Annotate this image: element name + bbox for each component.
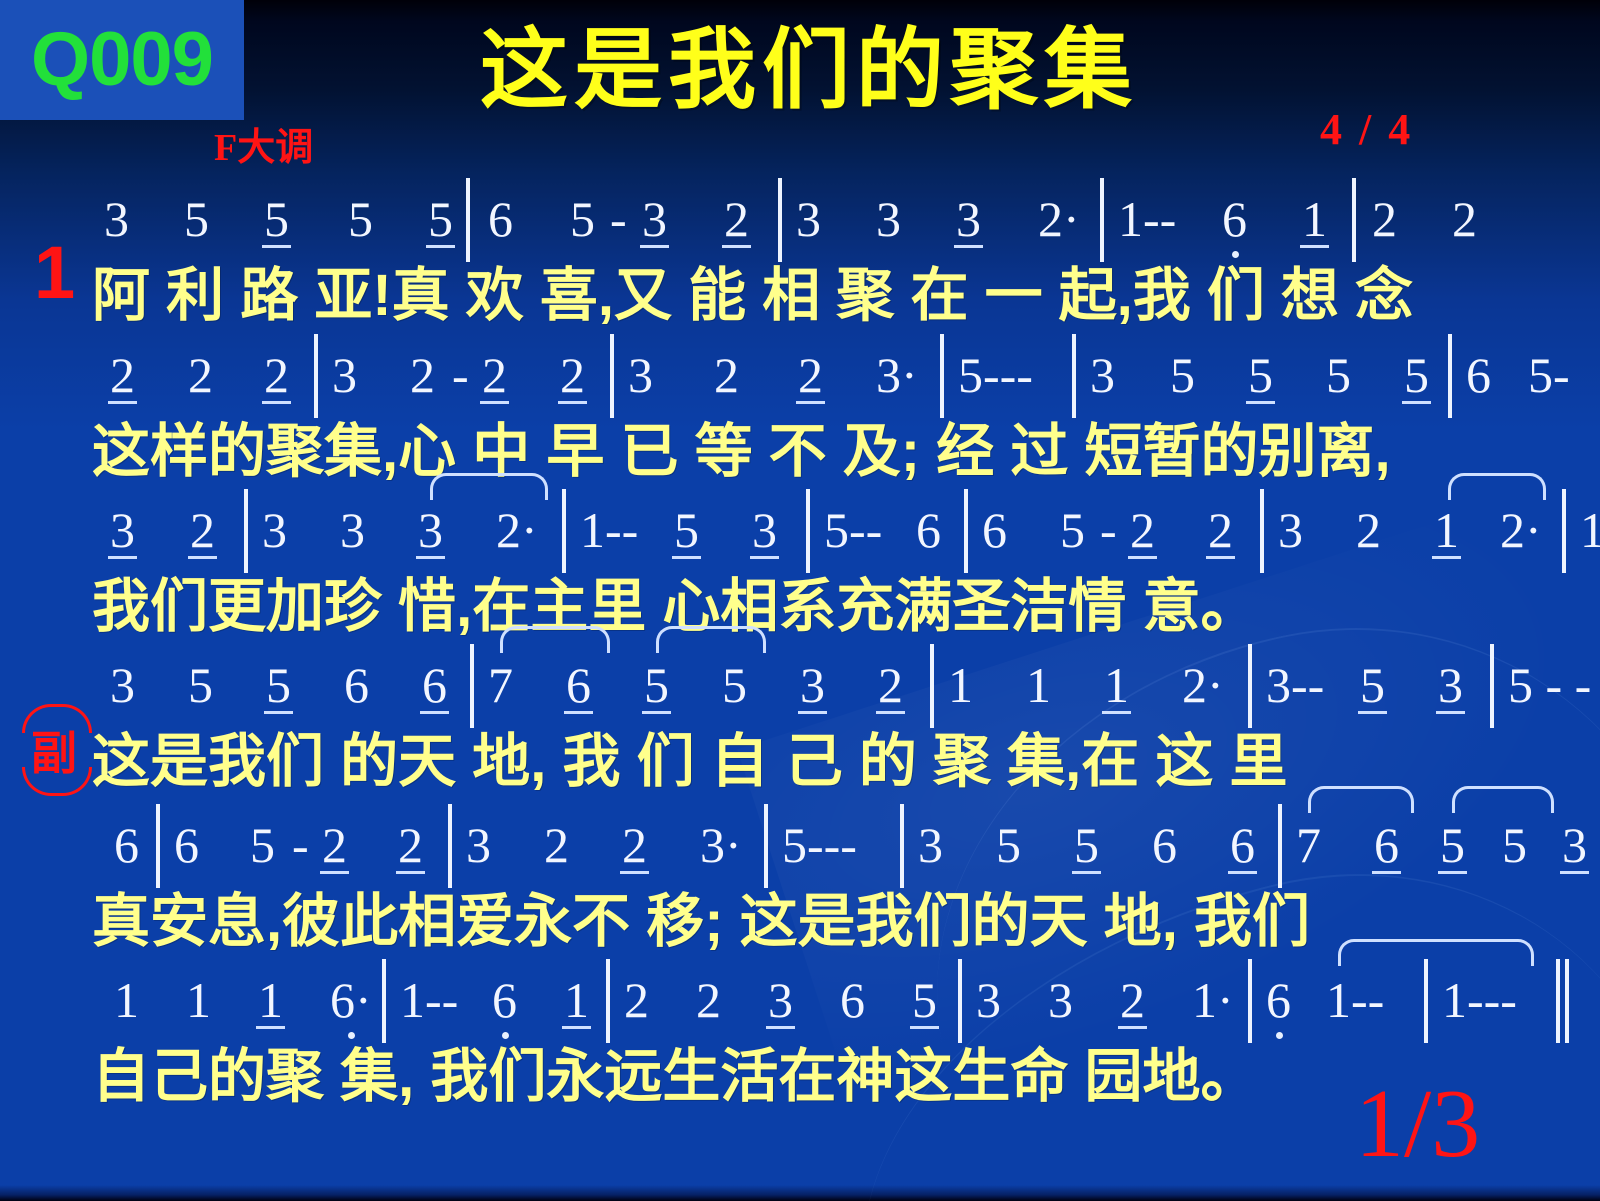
note: 5: [912, 963, 937, 1037]
note: 5: [644, 648, 669, 722]
note: 3: [110, 648, 135, 722]
note: 6·: [330, 963, 372, 1037]
note: 3: [1090, 338, 1115, 412]
note: 2: [560, 338, 585, 412]
note: 2: [624, 963, 649, 1037]
note: 3·: [700, 808, 742, 882]
note: 6: [344, 648, 369, 722]
slur-arc-icon: [1308, 786, 1414, 813]
note: 6: [916, 493, 941, 567]
note: 6: [492, 963, 517, 1037]
note: -: [610, 182, 627, 256]
barline: [1260, 489, 1264, 573]
note: 2: [188, 338, 213, 412]
note: 1: [258, 963, 283, 1037]
note: 1--: [1326, 963, 1384, 1037]
note: 5: [1248, 338, 1273, 412]
barline: [562, 489, 566, 573]
barline: [448, 804, 452, 888]
note: 3: [800, 648, 825, 722]
score-row: 323332·1--535--665-223212·1---我们更加珍 惜,在主…: [0, 493, 1600, 647]
note: 2: [1452, 182, 1477, 256]
barline: [806, 489, 810, 573]
notation-line: 665-223223·5---35566765532: [0, 808, 1600, 882]
note: 2·: [1500, 493, 1542, 567]
note: 2: [410, 338, 435, 412]
note: 3: [918, 808, 943, 882]
notation-line: 3555565-323332·1--6122: [0, 182, 1600, 256]
song-slide: Q009 F大调 这是我们的聚集 4 / 4 1/3 1 副 3555565-3…: [0, 0, 1600, 1201]
barline: [1352, 178, 1356, 262]
note: 5: [570, 182, 595, 256]
lyric-text: 阿 利 路 亚!真 欢 喜,又 能 相 聚 在 一 起,我 们 想 念: [92, 256, 1413, 336]
note: 6: [1222, 182, 1247, 256]
notation-line: 1116·1--61223653321·61--1---: [0, 963, 1600, 1037]
note: 6: [114, 808, 139, 882]
barline: [900, 804, 904, 888]
barline: [244, 489, 248, 573]
slur-arc-icon: [500, 626, 610, 653]
note: 6: [488, 182, 513, 256]
barline: [964, 489, 968, 573]
note: 3: [104, 182, 129, 256]
note: 5: [266, 648, 291, 722]
note: 5: [996, 808, 1021, 882]
time-signature: 4 / 4: [1320, 104, 1413, 155]
note: 5: [1060, 493, 1085, 567]
score-row: 355667655321112·3--535 - -这是我们 的天 地, 我 们…: [0, 648, 1600, 802]
notation-line: 355667655321112·3--535 - -: [0, 648, 1600, 722]
lyric-line: 我们更加珍 惜,在主里 心相系充满圣洁情 意。: [0, 567, 1600, 647]
barline: [1248, 644, 1252, 728]
note: 5 - -: [1508, 648, 1591, 722]
lyric-text: 这是我们 的天 地, 我 们 自 己 的 聚 集,在 这 里: [92, 722, 1288, 802]
note: 2: [696, 963, 721, 1037]
note: 1: [948, 648, 973, 722]
note: 2: [714, 338, 739, 412]
note: 5: [348, 182, 373, 256]
slur-arc-icon: [656, 626, 766, 653]
slur-arc-icon: [1448, 473, 1546, 500]
note: 6: [840, 963, 865, 1037]
note: 7: [488, 648, 513, 722]
chorus-label: 副: [31, 717, 77, 783]
note: 5: [250, 808, 275, 882]
note: 1: [1104, 648, 1129, 722]
barline: [958, 959, 962, 1043]
note: 6: [422, 648, 447, 722]
note: 2·: [1038, 182, 1080, 256]
note: 1--: [580, 493, 638, 567]
note: 3: [628, 338, 653, 412]
notation-line: 22232-223223·5---3555565-: [0, 338, 1600, 412]
note: 5: [264, 182, 289, 256]
note: 3: [956, 182, 981, 256]
note: 5: [1360, 648, 1385, 722]
lyric-line: 自己的聚 集, 我们永远生活在神这生命 园地。: [0, 1037, 1600, 1117]
barline: [940, 334, 944, 418]
note: 3: [332, 338, 357, 412]
note: 2: [1372, 182, 1397, 256]
note: 5: [188, 648, 213, 722]
note: 2: [622, 808, 647, 882]
note: 5---: [958, 338, 1033, 412]
note: 5: [1502, 808, 1527, 882]
note: 2: [1130, 493, 1155, 567]
note: 3: [1278, 493, 1303, 567]
note: 2: [724, 182, 749, 256]
lyric-text: 这样的聚集,心 中 早 已 等 不 及; 经 过 短暂的别离,: [92, 412, 1391, 492]
note: 2: [1120, 963, 1145, 1037]
note: 1: [1026, 648, 1051, 722]
note: 6: [1152, 808, 1177, 882]
note: 1·: [1192, 963, 1234, 1037]
note: 6: [982, 493, 1007, 567]
note: 2: [398, 808, 423, 882]
note: 6: [174, 808, 199, 882]
note: 3: [796, 182, 821, 256]
note: -: [1100, 493, 1117, 567]
song-code-badge: Q009: [0, 0, 244, 120]
note: 1: [1434, 493, 1459, 567]
note: 3: [418, 493, 443, 567]
note: 2·: [496, 493, 538, 567]
note: 5: [674, 493, 699, 567]
slur-arc-icon: [1338, 939, 1534, 966]
note: 1: [1302, 182, 1327, 256]
final-double-barline: [1556, 959, 1572, 1043]
barline: [778, 178, 782, 262]
note: 2: [190, 493, 215, 567]
note: 2: [544, 808, 569, 882]
barline: [382, 959, 386, 1043]
notation-line: 323332·1--535--665-223212·1---: [0, 493, 1600, 567]
note: 3: [1562, 808, 1587, 882]
barline: [1278, 804, 1282, 888]
slur-arc-icon: [430, 473, 548, 500]
note: 5: [428, 182, 453, 256]
note: 1: [186, 963, 211, 1037]
note: 6: [566, 648, 591, 722]
note: 3: [768, 963, 793, 1037]
score-row: 3555565-323332·1--6122阿 利 路 亚!真 欢 喜,又 能 …: [0, 182, 1600, 336]
note: 3: [1048, 963, 1073, 1037]
note: 1--: [400, 963, 458, 1037]
slur-arc-icon: [1452, 786, 1554, 813]
note: 3: [642, 182, 667, 256]
note: 3: [1438, 648, 1463, 722]
lyric-text: 真安息,彼此相爱永不 移; 这是我们的天 地, 我们: [92, 882, 1310, 962]
note: 1: [564, 963, 589, 1037]
note: 1: [114, 963, 139, 1037]
barline: [470, 644, 474, 728]
note: 1---: [1580, 493, 1600, 567]
note: 5: [1440, 808, 1465, 882]
note: 3: [466, 808, 491, 882]
note: 5--: [824, 493, 882, 567]
note: 5: [1170, 338, 1195, 412]
barline: [606, 959, 610, 1043]
note: 3: [110, 493, 135, 567]
note: 2: [1208, 493, 1233, 567]
lyric-text: 自己的聚 集, 我们永远生活在神这生命 园地。: [92, 1037, 1258, 1117]
barline: [156, 804, 160, 888]
lyric-line: 阿 利 路 亚!真 欢 喜,又 能 相 聚 在 一 起,我 们 想 念: [0, 256, 1600, 336]
note: 3: [876, 182, 901, 256]
note: 6: [1374, 808, 1399, 882]
note: 3--: [1266, 648, 1324, 722]
note: 6: [1466, 338, 1491, 412]
barline: [1072, 334, 1076, 418]
note: 2·: [1182, 648, 1224, 722]
note: 5: [1326, 338, 1351, 412]
note: 3: [976, 963, 1001, 1037]
note: 2: [322, 808, 347, 882]
barline: [930, 644, 934, 728]
note: 3·: [876, 338, 918, 412]
page-title: 这是我们的聚集: [480, 24, 1138, 116]
note: -: [452, 338, 469, 412]
barline: [610, 334, 614, 418]
barline: [1424, 959, 1428, 1043]
score-row: 1116·1--61223653321·61--1---自己的聚 集, 我们永远…: [0, 963, 1600, 1117]
note: 6: [1266, 963, 1291, 1037]
note: 2: [798, 338, 823, 412]
note: 3: [340, 493, 365, 567]
note: 5-: [1528, 338, 1570, 412]
key-signature: F大调: [214, 116, 313, 171]
lyric-line: 这样的聚集,心 中 早 已 等 不 及; 经 过 短暂的别离,: [0, 412, 1600, 492]
note: 2: [878, 648, 903, 722]
note: 3: [262, 493, 287, 567]
song-code-text: Q009: [31, 22, 213, 98]
note: 5: [722, 648, 747, 722]
barline: [1248, 959, 1252, 1043]
barline: [1562, 489, 1566, 573]
note: 1--: [1118, 182, 1176, 256]
barline: [1100, 178, 1104, 262]
note: 2: [1356, 493, 1381, 567]
barline: [764, 804, 768, 888]
barline: [1448, 334, 1452, 418]
note: -: [292, 808, 309, 882]
score-row: 22232-223223·5---3555565-这样的聚集,心 中 早 已 等…: [0, 338, 1600, 492]
note: 2: [264, 338, 289, 412]
note: 5: [1404, 338, 1429, 412]
barline: [314, 334, 318, 418]
note: 5: [184, 182, 209, 256]
note: 5: [1074, 808, 1099, 882]
note: 2: [482, 338, 507, 412]
note: 3: [752, 493, 777, 567]
note: 2: [110, 338, 135, 412]
note: 5---: [782, 808, 857, 882]
note: 7: [1296, 808, 1321, 882]
barline: [466, 178, 470, 262]
note: 1---: [1442, 963, 1517, 1037]
note: 6: [1230, 808, 1255, 882]
barline: [1490, 644, 1494, 728]
